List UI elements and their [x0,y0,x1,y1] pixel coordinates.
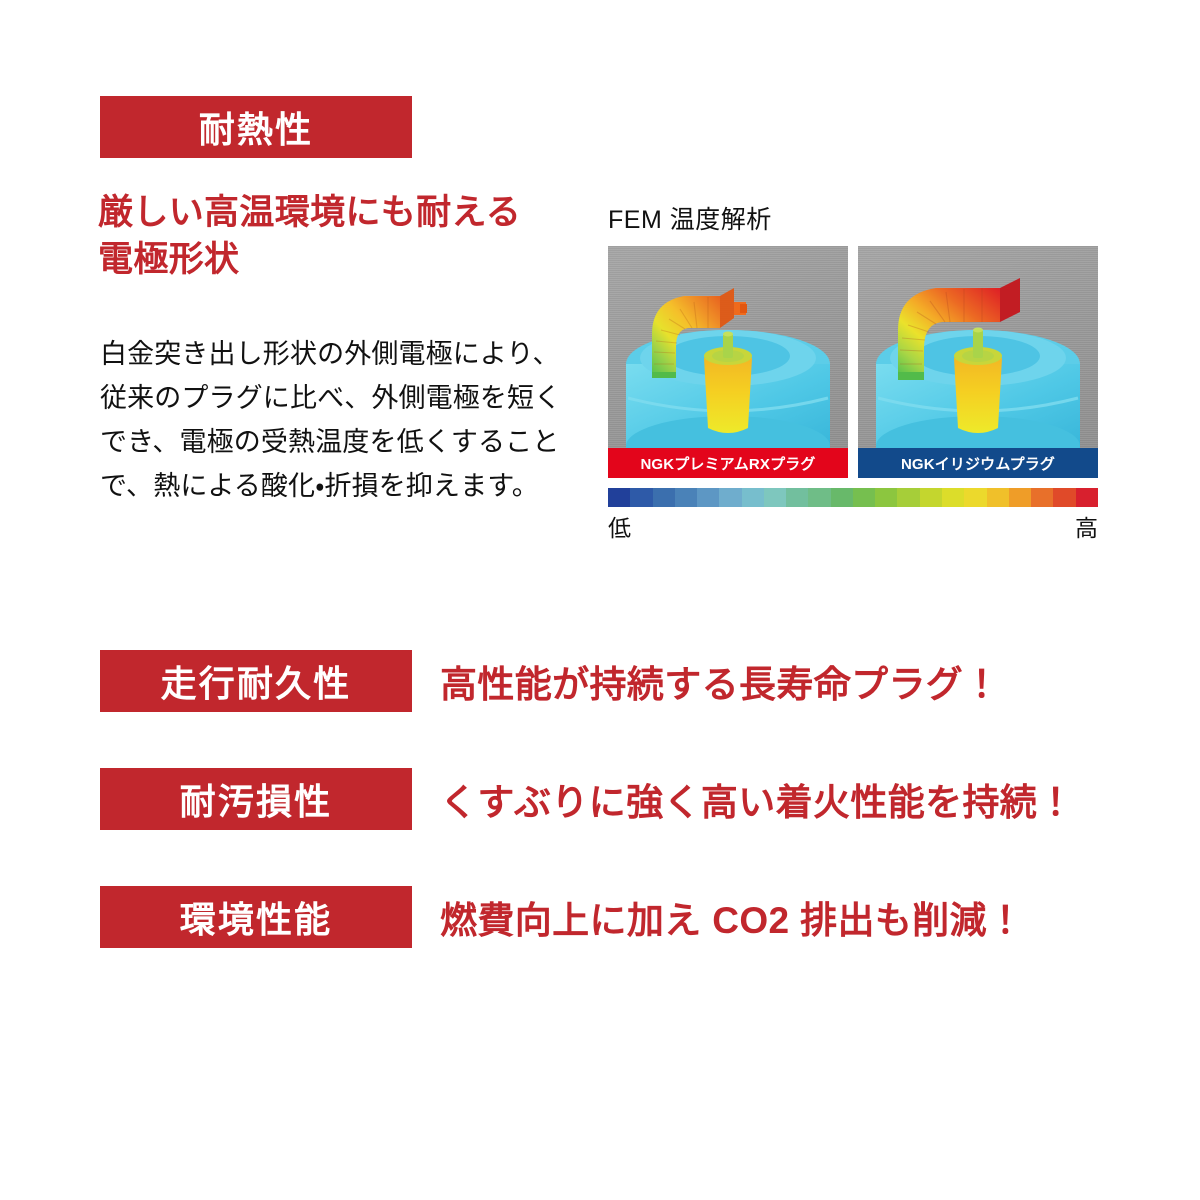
scale-band-19 [1031,488,1053,507]
heat-body-paragraph: 白金突き出し形状の外側電極により、 従来のプラグに比べ、外側電極を短く でき、電… [100,332,582,508]
feature-text-environmental: 燃費向上に加え CO2 排出も削減！ [440,890,1024,944]
scale-band-4 [697,488,719,507]
feature-badge-environmental: 環境性能 [100,886,412,948]
heat-headline-line-1: 厳しい高温環境にも耐える [98,190,578,237]
scale-band-14 [920,488,942,507]
fem-panel-group: NGKプレミアムRXプラグ [608,246,1098,478]
heat-body-line-2: 従来のプラグに比べ、外側電極を短く [100,376,582,420]
scale-band-3 [675,488,697,507]
scale-band-5 [719,488,741,507]
scale-band-16 [964,488,986,507]
temperature-scale: 低 高 [608,488,1098,543]
scale-band-13 [897,488,919,507]
section-badge-heat-resistance: 耐熱性 [100,96,412,158]
scale-band-1 [630,488,652,507]
feature-row-environmental: 環境性能 燃費向上に加え CO2 排出も削減！ [100,886,1100,948]
feature-badge-fouling-resistance: 耐汚損性 [100,768,412,830]
fem-panel-iridium: NGKイリジウムプラグ [858,246,1098,478]
feature-text-fouling-resistance: くすぶりに強く高い着火性能を持続！ [440,772,1075,826]
fem-analysis-block: FEM 温度解析 [608,200,1098,543]
scale-band-2 [653,488,675,507]
scale-band-9 [808,488,830,507]
temperature-scale-labels: 低 高 [608,509,1098,543]
fem-caption-premium-rx: NGKプレミアムRXプラグ [608,448,848,478]
scale-label-low: 低 [608,509,631,543]
spark-plug-thermal-render-premium-rx [608,246,848,478]
scale-band-6 [742,488,764,507]
scale-band-17 [987,488,1009,507]
scale-band-18 [1009,488,1031,507]
scale-band-15 [942,488,964,507]
scale-band-20 [1053,488,1075,507]
scale-band-21 [1076,488,1098,507]
scale-band-0 [608,488,630,507]
fem-caption-iridium: NGKイリジウムプラグ [858,448,1098,478]
heat-body-line-3: でき、電極の受熱温度を低くすること [100,420,582,464]
scale-band-7 [764,488,786,507]
heat-headline: 厳しい高温環境にも耐える 電極形状 [98,190,578,283]
fem-panel-premium-rx: NGKプレミアムRXプラグ [608,246,848,478]
feature-row-fouling-resistance: 耐汚損性 くすぶりに強く高い着火性能を持続！ [100,768,1100,830]
fem-title: FEM 温度解析 [608,200,1098,236]
heat-body-line-1: 白金突き出し形状の外側電極により、 [100,332,582,376]
spark-plug-thermal-render-iridium [858,246,1098,478]
heat-headline-line-2: 電極形状 [98,237,578,284]
feature-text-durability: 高性能が持続する長寿命プラグ！ [440,654,1001,708]
scale-band-8 [786,488,808,507]
scale-band-11 [853,488,875,507]
temperature-color-bar [608,488,1098,507]
heat-body-line-4: で、熱による酸化・折損を抑えます。 [100,464,582,508]
scale-band-10 [831,488,853,507]
scale-label-high: 高 [1075,509,1098,543]
scale-band-12 [875,488,897,507]
infographic-page: 耐熱性 厳しい高温環境にも耐える 電極形状 白金突き出し形状の外側電極により、 … [0,0,1200,1200]
feature-row-durability: 走行耐久性 高性能が持続する長寿命プラグ！ [100,650,1100,712]
feature-badge-durability: 走行耐久性 [100,650,412,712]
